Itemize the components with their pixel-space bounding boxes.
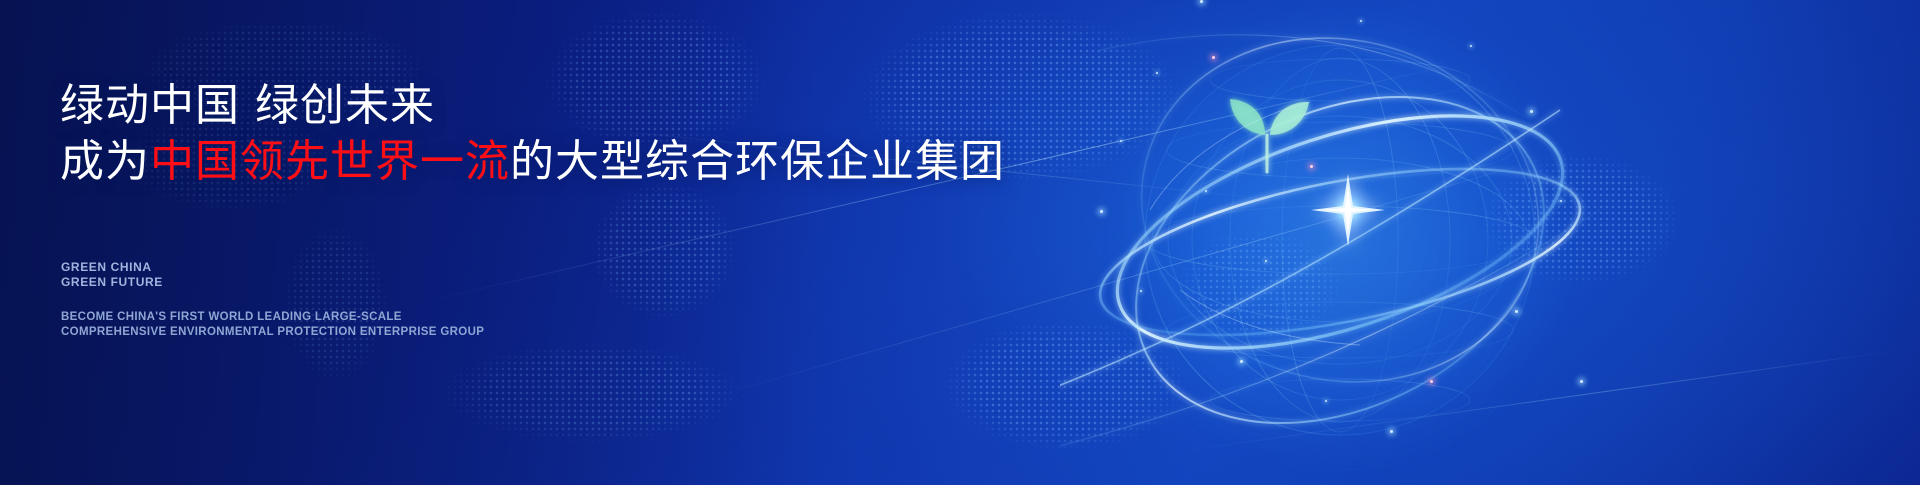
tagline-block: GREEN CHINA GREEN FUTURE xyxy=(61,260,163,290)
headline-line-2-pre: 成为 xyxy=(60,136,150,187)
headline-highlight: 中国领先世界一流 xyxy=(150,136,510,187)
tagline-line-1: GREEN CHINA xyxy=(61,260,163,275)
subtitle-block: BECOME CHINA'S FIRST WORLD LEADING LARGE… xyxy=(61,310,484,339)
tagline-line-2: GREEN FUTURE xyxy=(61,275,163,290)
hero-banner: 绿动中国 绿创未来 成为中国领先世界一流的大型综合环保企业集团 GREEN CH… xyxy=(0,0,1920,485)
hero-headline: 绿动中国 绿创未来 成为中国领先世界一流的大型综合环保企业集团 xyxy=(60,78,1005,190)
headline-line-1: 绿动中国 绿创未来 xyxy=(60,78,1005,134)
subtitle-line-2: COMPREHENSIVE ENVIRONMENTAL PROTECTION E… xyxy=(61,325,484,340)
headline-line-2: 成为中国领先世界一流的大型综合环保企业集团 xyxy=(60,134,1005,190)
subtitle-line-1: BECOME CHINA'S FIRST WORLD LEADING LARGE… xyxy=(61,310,484,325)
headline-line-2-post: 的大型综合环保企业集团 xyxy=(510,136,1005,187)
